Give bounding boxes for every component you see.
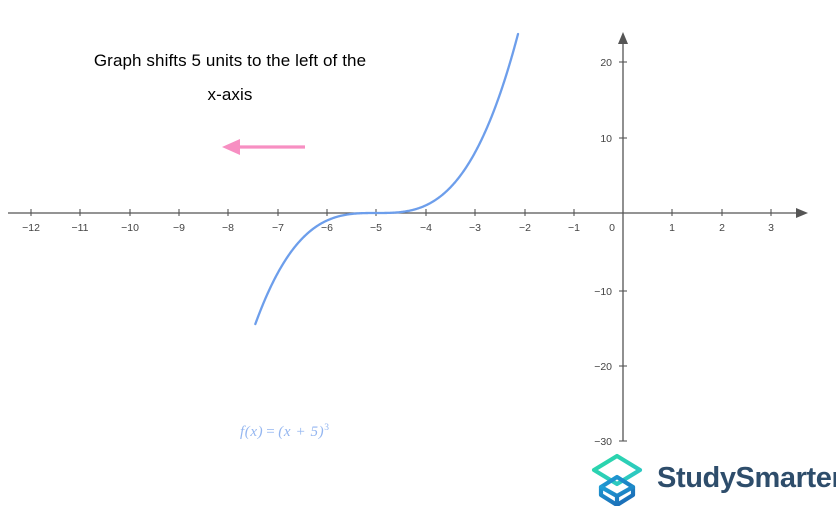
coordinate-plane: −12 −11 −10 −9 −8 −7 −6 −5 −4 −3 −2 −1 0… bbox=[0, 0, 836, 515]
y-tick-label: 20 bbox=[600, 57, 612, 69]
x-tick-label: −12 bbox=[22, 222, 40, 234]
y-tick-label: −10 bbox=[594, 286, 612, 298]
shift-arrow-left-icon bbox=[222, 139, 305, 155]
function-expression: (x + 5) bbox=[278, 424, 324, 440]
y-axis: 20 10 −10 −20 −30 bbox=[594, 32, 628, 448]
x-tick-label: −4 bbox=[420, 222, 432, 234]
x-tick-label: −1 bbox=[568, 222, 580, 234]
function-equation-label: f(x)=(x + 5)3 bbox=[240, 423, 330, 441]
x-tick-label: 2 bbox=[719, 222, 725, 234]
graph-figure: Graph shifts 5 units to the left of the … bbox=[0, 0, 836, 515]
brand-name: StudySmarter bbox=[657, 462, 836, 495]
x-tick-label-origin: 0 bbox=[609, 222, 615, 234]
open-box-logo-icon bbox=[589, 450, 645, 506]
x-tick-label: −2 bbox=[519, 222, 531, 234]
x-tick-label: −8 bbox=[222, 222, 234, 234]
x-axis-tick-labels: −12 −11 −10 −9 −8 −7 −6 −5 −4 −3 −2 −1 0… bbox=[22, 222, 774, 234]
studysmarter-logo: StudySmarter bbox=[589, 450, 836, 506]
function-curve bbox=[255, 34, 518, 324]
x-tick-label: 3 bbox=[768, 222, 774, 234]
y-tick-label-clipped: −30 bbox=[594, 436, 612, 448]
y-tick-label: 10 bbox=[600, 133, 612, 145]
y-axis-tick-labels: 20 10 −10 −20 −30 bbox=[594, 57, 612, 448]
function-exponent: 3 bbox=[324, 423, 329, 433]
x-tick-label: −11 bbox=[71, 222, 88, 234]
x-tick-label: 1 bbox=[669, 222, 675, 234]
x-tick-label: −9 bbox=[173, 222, 185, 234]
equals-sign: = bbox=[263, 424, 278, 440]
x-tick-label: −5 bbox=[370, 222, 382, 234]
x-tick-label: −7 bbox=[272, 222, 284, 234]
function-name: f(x) bbox=[240, 424, 263, 440]
y-tick-label: −20 bbox=[594, 361, 612, 373]
x-tick-label: −3 bbox=[469, 222, 481, 234]
x-tick-label: −10 bbox=[121, 222, 139, 234]
